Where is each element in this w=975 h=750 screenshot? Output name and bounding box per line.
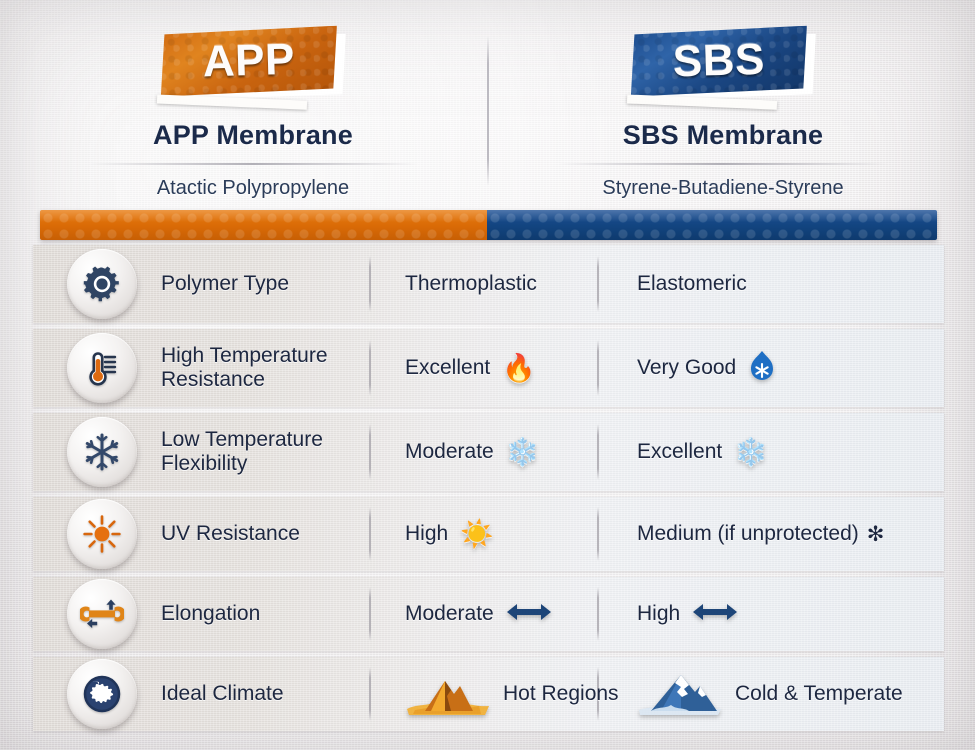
- app-value-cell: Excellent 🔥: [405, 355, 601, 382]
- sbs-value-cell: Very Good: [637, 350, 967, 387]
- app-value-cell: Hot Regions: [405, 665, 601, 723]
- blue-flame-snowflake-icon: [748, 350, 776, 387]
- globe-icon: [67, 659, 137, 729]
- table-row: Low Temperature Flexibility Moderate ❄️ …: [33, 413, 944, 491]
- row-label: UV Resistance: [161, 522, 371, 546]
- snowy-mountain-icon: [637, 665, 723, 723]
- row-label: Elongation: [161, 602, 371, 626]
- row-label: Low Temperature Flexibility: [161, 428, 371, 477]
- snowflake-icon: ❄️: [506, 439, 540, 466]
- app-logo-plaque: APP: [159, 25, 347, 106]
- flame-icon: 🔥: [502, 355, 536, 382]
- sbs-logo-plaque: SBS: [629, 25, 817, 106]
- thermometer-icon: [67, 333, 137, 403]
- header: APP APP Membrane Atactic Polypropylene S…: [0, 0, 975, 198]
- asterisk-icon: ✻: [867, 522, 885, 547]
- double-arrow-icon: [692, 601, 738, 628]
- double-arrow-icon: [506, 601, 552, 628]
- app-title-rule: [88, 163, 418, 165]
- sun-icon: ☀️: [460, 521, 494, 548]
- desert-mountain-icon: [405, 665, 491, 723]
- table-row: Elongation Moderate High: [33, 577, 944, 651]
- color-divider-bar: [40, 210, 937, 240]
- sbs-value-cell: Elastomeric: [637, 272, 967, 296]
- header-divider: [487, 36, 489, 186]
- comparison-table: Polymer Type Thermoplastic Elastomeric: [33, 245, 944, 737]
- app-value-cell: High ☀️: [405, 521, 601, 548]
- sbs-subtitle: Styrene-Butadiene-Styrene: [508, 177, 938, 200]
- row-label: Ideal Climate: [161, 682, 371, 706]
- snowflake-icon: [67, 417, 137, 487]
- header-column-sbs: SBS SBS Membrane Styrene-Butadiene-Styre…: [508, 0, 938, 200]
- snowflake-icon: ❄️: [734, 439, 768, 466]
- app-value-cell: Thermoplastic: [405, 272, 601, 296]
- table-row: Ideal Climate Hot Regions: [33, 657, 944, 731]
- sbs-title: SBS Membrane: [508, 120, 938, 151]
- sbs-value-cell: Cold & Temperate: [637, 665, 967, 723]
- sbs-title-rule: [558, 163, 888, 165]
- table-row: Polymer Type Thermoplastic Elastomeric: [33, 245, 944, 323]
- row-label: High Temperature Resistance: [161, 344, 371, 393]
- table-row: High Temperature Resistance Excellent 🔥 …: [33, 329, 944, 407]
- gear-icon: [67, 249, 137, 319]
- row-label: Polymer Type: [161, 272, 371, 296]
- sbs-value-cell: Excellent ❄️: [637, 439, 967, 466]
- stretch-icon: [67, 579, 137, 649]
- app-subtitle: Atactic Polypropylene: [38, 177, 468, 200]
- sbs-value-cell: High: [637, 601, 967, 628]
- header-column-app: APP APP Membrane Atactic Polypropylene: [38, 0, 468, 200]
- sun-icon: [67, 499, 137, 569]
- table-row: UV Resistance High ☀️ Medium (if unprote…: [33, 497, 944, 571]
- sbs-logo-text: SBS: [672, 35, 765, 88]
- app-title: APP Membrane: [38, 120, 468, 151]
- sbs-value-cell: Medium (if unprotected) ✻: [637, 522, 967, 547]
- app-value-cell: Moderate: [405, 601, 601, 628]
- app-value-cell: Moderate ❄️: [405, 439, 601, 466]
- app-logo-text: APP: [202, 35, 295, 88]
